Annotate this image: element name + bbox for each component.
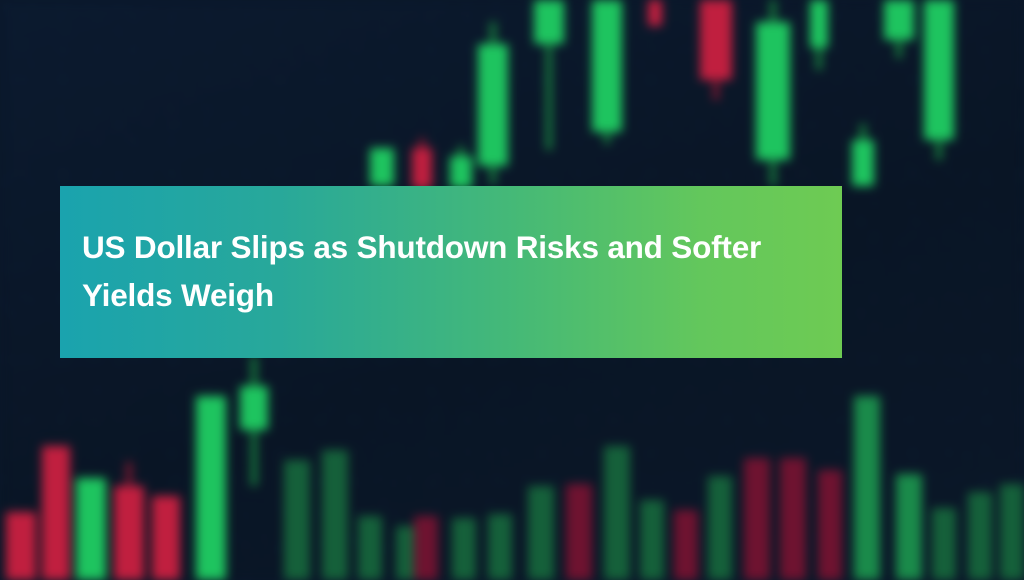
candlestick-body bbox=[810, 0, 828, 48]
candlestick-body bbox=[76, 478, 106, 580]
candlestick-wick-upper bbox=[126, 462, 132, 486]
candlestick-body bbox=[284, 460, 310, 580]
candlestick-body bbox=[852, 140, 874, 186]
candlestick-body bbox=[674, 510, 698, 580]
candlestick-body bbox=[648, 0, 662, 26]
candlestick-wick-lower bbox=[546, 44, 552, 150]
headline-banner: US Dollar Slips as Shutdown Risks and So… bbox=[60, 186, 842, 358]
hero-image-canvas: US Dollar Slips as Shutdown Risks and So… bbox=[0, 0, 1024, 580]
candlestick-body bbox=[854, 396, 880, 580]
candlestick-body bbox=[152, 496, 180, 580]
candlestick-wick-upper bbox=[419, 138, 425, 148]
candlestick-body bbox=[640, 500, 664, 580]
candlestick-body bbox=[414, 516, 438, 580]
candlestick-body bbox=[818, 470, 842, 580]
candlestick-wick-upper bbox=[490, 22, 496, 44]
candlestick-body bbox=[114, 486, 144, 580]
candlestick-body bbox=[932, 508, 956, 580]
candlestick-body bbox=[566, 484, 592, 580]
candlestick-body bbox=[370, 148, 394, 186]
candlestick-wick-lower bbox=[490, 166, 496, 184]
candlestick-body bbox=[450, 156, 472, 188]
candlestick-body bbox=[884, 0, 914, 40]
candlestick-wick-lower bbox=[936, 140, 942, 160]
candlestick-body bbox=[924, 0, 954, 140]
candlestick-body bbox=[452, 518, 476, 580]
candlestick-body bbox=[592, 0, 622, 132]
candlestick-body bbox=[412, 148, 432, 188]
candlestick-wick-upper bbox=[251, 356, 257, 386]
candlestick-body bbox=[896, 474, 922, 580]
candlestick-body bbox=[196, 396, 226, 580]
headline-title: US Dollar Slips as Shutdown Risks and So… bbox=[82, 224, 802, 320]
candlestick-wick-lower bbox=[816, 48, 822, 70]
candlestick-body bbox=[488, 514, 512, 580]
candlestick-body bbox=[744, 458, 770, 580]
candlestick-body bbox=[604, 446, 630, 580]
candlestick-body bbox=[478, 44, 508, 166]
candlestick-body bbox=[528, 486, 554, 580]
candlestick-wick-lower bbox=[713, 80, 719, 100]
candlestick-body bbox=[708, 476, 732, 580]
candlestick-wick-upper bbox=[458, 146, 464, 156]
candlestick-body bbox=[780, 458, 806, 580]
candlestick-body bbox=[322, 450, 348, 580]
candlestick-body bbox=[6, 512, 36, 580]
candlestick-body bbox=[1000, 484, 1024, 580]
candlestick-body bbox=[534, 0, 564, 44]
candlestick-body bbox=[756, 22, 790, 160]
candlestick-body bbox=[240, 386, 268, 430]
candlestick-wick-upper bbox=[860, 124, 866, 140]
candlestick-wick-lower bbox=[251, 430, 257, 486]
candlestick-body bbox=[358, 516, 382, 580]
candlestick-wick-lower bbox=[896, 40, 902, 58]
candlestick-wick-lower bbox=[604, 132, 610, 144]
candlestick-body bbox=[968, 492, 992, 580]
candlestick-wick-lower bbox=[770, 160, 776, 186]
candlestick-wick-upper bbox=[770, 0, 776, 22]
candlestick-body bbox=[700, 0, 732, 80]
candlestick-body bbox=[42, 446, 70, 580]
